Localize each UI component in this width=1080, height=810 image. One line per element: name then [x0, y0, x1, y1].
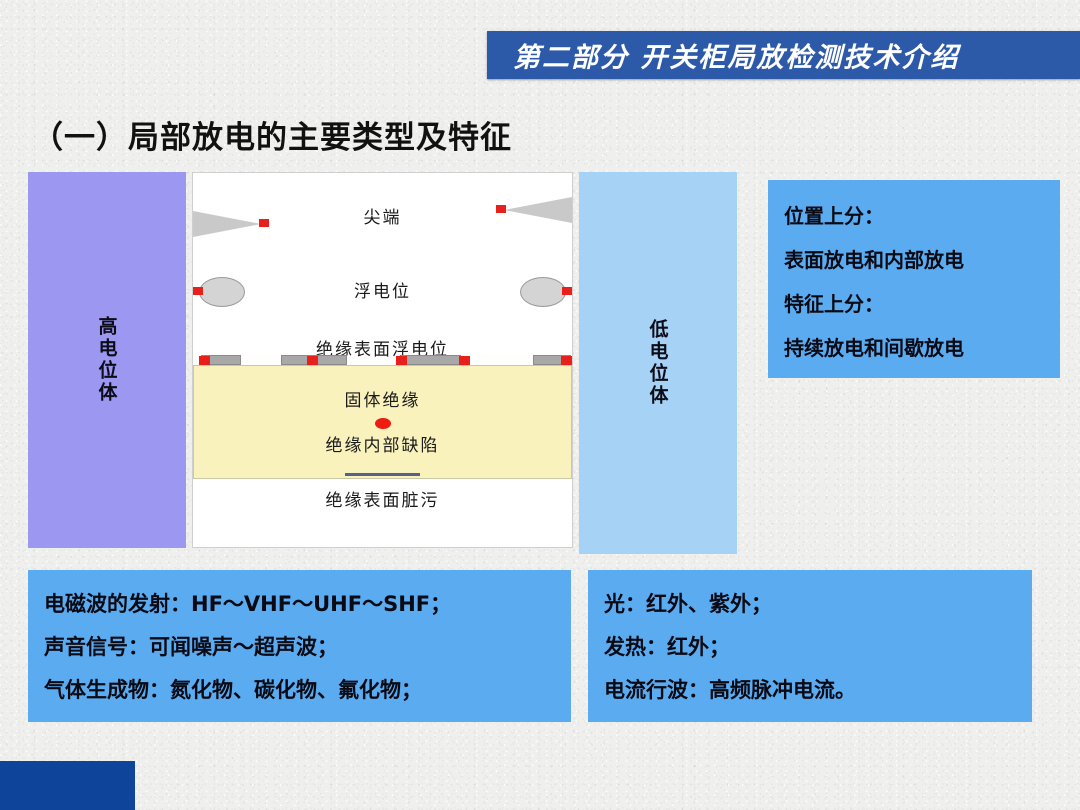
header-banner-text: 第二部分 开关柜局放检测技术介绍	[513, 36, 959, 75]
discharge-marker-tip-right	[496, 205, 506, 213]
discharge-marker-floating-left	[193, 287, 203, 295]
header-banner: 第二部分 开关柜局放检测技术介绍	[487, 31, 1080, 79]
discharge-marker-tip-left	[259, 219, 269, 227]
surface-pad-3	[401, 355, 461, 365]
info-panel-line-2: 表面放电和内部放电	[784, 238, 1044, 282]
internal-defect-dot-icon	[375, 418, 391, 429]
electrode-high-potential-label: 高电位体	[94, 316, 121, 404]
electrode-low-potential-label: 低电位体	[645, 319, 672, 407]
optical-thermal-signals-box: 光：红外、紫外； 发热：红外； 电流行波：高频脉冲电流。	[588, 570, 1032, 722]
label-solid-insulation: 固体绝缘	[345, 386, 421, 411]
tip-electrode-right-icon	[504, 197, 572, 223]
footer-accent-block	[0, 761, 135, 810]
partial-discharge-diagram: 高电位体 低电位体 尖端 浮电位 绝缘表面浮电位	[28, 172, 751, 554]
page-title: （一）局部放电的主要类型及特征	[32, 112, 512, 157]
surface-pad-marker-3a	[396, 356, 407, 365]
emission-signals-line-1: 电磁波的发射：HF～VHF～UHF～SHF；	[44, 583, 571, 626]
optical-thermal-line-1: 光：红外、紫外；	[604, 583, 1032, 626]
emission-signals-line-2: 声音信号：可闻噪声～超声波；	[44, 626, 571, 669]
tip-electrode-left-icon	[193, 211, 261, 237]
surface-pad-marker-4	[561, 356, 572, 365]
optical-thermal-line-2: 发热：红外；	[604, 626, 1032, 669]
label-floating-potential: 浮电位	[354, 277, 411, 302]
info-panel-line-1: 位置上分：	[784, 194, 1044, 238]
label-tip: 尖端	[364, 203, 402, 228]
discharge-marker-floating-right	[562, 287, 572, 295]
floating-body-left-icon	[199, 277, 245, 307]
electrode-low-potential: 低电位体	[579, 172, 737, 554]
surface-pad-marker-1	[199, 356, 210, 365]
surface-pad-marker-3b	[459, 356, 470, 365]
optical-thermal-line-3: 电流行波：高频脉冲电流。	[604, 669, 1032, 712]
info-panel-line-4: 持续放电和间歇放电	[784, 326, 1044, 370]
emission-signals-box: 电磁波的发射：HF～VHF～UHF～SHF； 声音信号：可闻噪声～超声波； 气体…	[28, 570, 571, 722]
label-internal-defect: 绝缘内部缺陷	[326, 431, 440, 456]
diagram-inner-canvas: 尖端 浮电位 绝缘表面浮电位 固体绝缘	[192, 172, 573, 548]
emission-signals-line-3: 气体生成物：氮化物、碳化物、氟化物；	[44, 669, 571, 712]
slide-canvas: 第二部分 开关柜局放检测技术介绍 （一）局部放电的主要类型及特征 高电位体 低电…	[0, 0, 1080, 810]
info-panel-line-3: 特征上分：	[784, 282, 1044, 326]
floating-body-right-icon	[520, 277, 566, 307]
surface-pad-marker-2	[307, 356, 318, 365]
label-surface-contamination: 绝缘表面脏污	[326, 486, 440, 511]
electrode-high-potential: 高电位体	[28, 172, 186, 548]
classification-info-panel: 位置上分： 表面放电和内部放电 特征上分： 持续放电和间歇放电	[768, 180, 1060, 378]
surface-contamination-line	[345, 473, 420, 476]
